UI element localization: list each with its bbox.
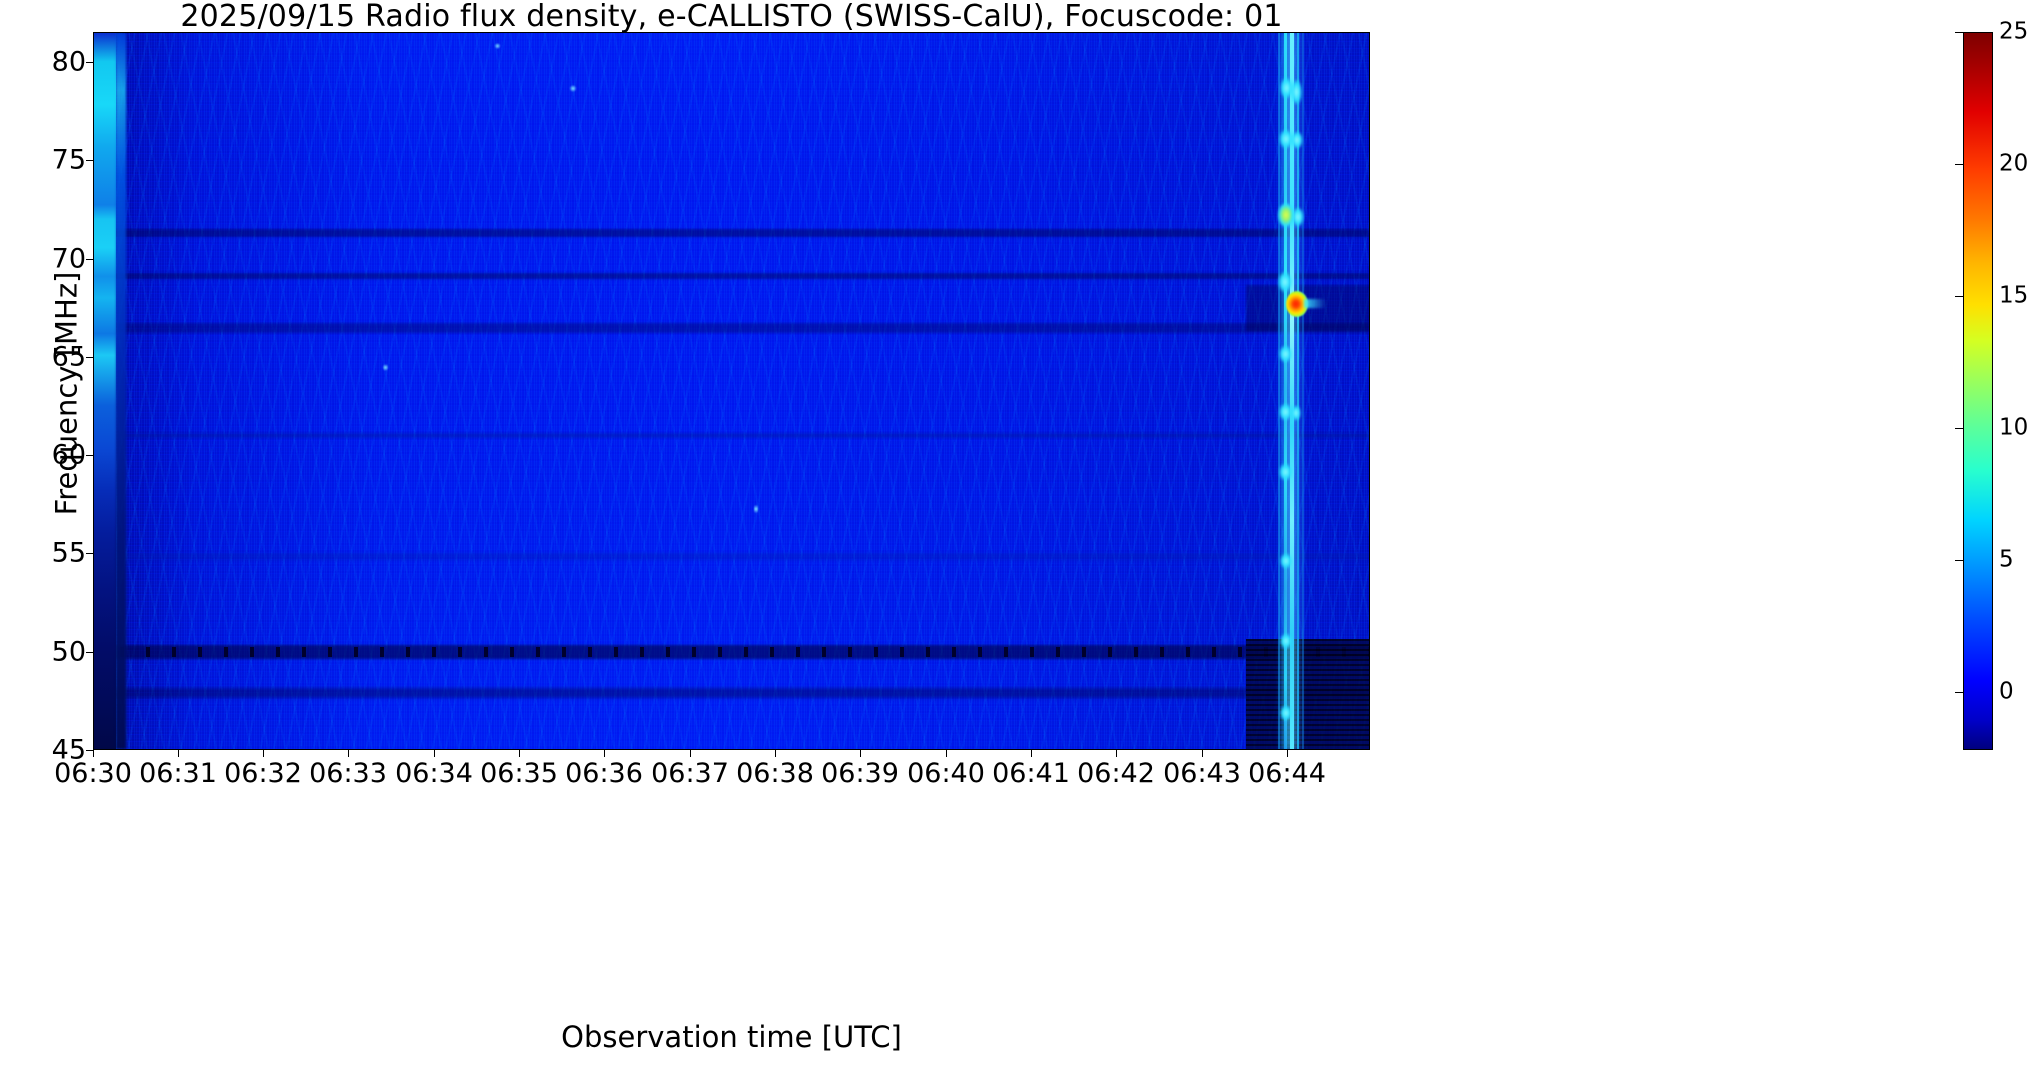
rfi-knot <box>1292 207 1304 227</box>
colorbar-tick <box>1955 560 1963 561</box>
colorbar-tick <box>1955 32 1963 33</box>
x-tick <box>1287 750 1288 757</box>
x-tick-label: 06:32 <box>224 760 302 787</box>
x-tick <box>1031 750 1032 757</box>
x-tick <box>860 750 861 757</box>
colorbar-tick <box>1955 692 1963 693</box>
y-tick <box>86 160 93 161</box>
colorbar-tick-label: 20 <box>1999 153 2028 176</box>
feature-band-60mhz <box>94 433 1369 438</box>
x-tick-label: 06:40 <box>907 760 985 787</box>
feature-band-72mhz <box>94 229 1369 237</box>
x-tick <box>775 750 776 757</box>
y-tick <box>86 553 93 554</box>
x-tick-label: 06:41 <box>992 760 1070 787</box>
y-tick <box>86 652 93 653</box>
x-tick-label: 06:37 <box>651 760 729 787</box>
colorbar-tick <box>1955 164 1963 165</box>
x-tick-label: 06:39 <box>821 760 899 787</box>
rfi-knot <box>1279 463 1292 481</box>
rfi-knot <box>1278 271 1292 293</box>
x-tick-label: 06:36 <box>565 760 643 787</box>
x-tick <box>263 750 264 757</box>
x-tick-label: 06:33 <box>309 760 387 787</box>
x-tick <box>604 750 605 757</box>
x-tick <box>93 750 94 757</box>
colorbar[interactable] <box>1963 32 1993 750</box>
y-tick <box>86 62 93 63</box>
x-tick <box>1116 750 1117 757</box>
x-tick <box>946 750 947 757</box>
rfi-knot <box>1279 345 1292 363</box>
calibration-band-edge <box>116 33 126 749</box>
feature-band-55mhz <box>94 553 1369 560</box>
vertical-streak-noise <box>94 33 1369 749</box>
colorbar-tick-label: 10 <box>1999 417 2028 440</box>
feature-band-48mhz <box>94 688 1369 698</box>
dark-patch-upper-band <box>1246 285 1370 331</box>
rfi-knot <box>1291 405 1301 421</box>
y-tick <box>86 750 93 751</box>
x-axis-label: Observation time [UTC] <box>93 1023 1370 1052</box>
calibration-band <box>94 33 116 749</box>
rfi-knot <box>1280 705 1292 721</box>
noise-speck <box>754 503 758 515</box>
rfi-hotspot-tail <box>1304 299 1326 308</box>
spectrogram-plot-area[interactable] <box>93 32 1370 750</box>
x-tick-label: 06:34 <box>395 760 473 787</box>
feature-band-70mhz <box>94 273 1369 279</box>
x-tick-label: 06:43 <box>1163 760 1241 787</box>
y-tick <box>86 455 93 456</box>
colorbar-tick <box>1955 428 1963 429</box>
x-tick <box>690 750 691 757</box>
x-tick <box>519 750 520 757</box>
noise-speck <box>383 363 388 372</box>
colorbar-tick-label: 5 <box>1999 549 2014 572</box>
x-tick <box>434 750 435 757</box>
rfi-knot <box>1291 79 1302 105</box>
feature-band-67mhz <box>94 323 1369 333</box>
colorbar-tick-label: 15 <box>1999 285 2028 308</box>
y-tick <box>86 259 93 260</box>
x-tick-label: 06:44 <box>1248 760 1326 787</box>
x-tick <box>178 750 179 757</box>
rfi-knot <box>1280 633 1292 649</box>
x-tick-label: 06:31 <box>139 760 217 787</box>
page-title: 2025/09/15 Radio flux density, e-CALLIST… <box>93 2 1370 32</box>
x-tick-label: 06:42 <box>1077 760 1155 787</box>
colorbar-tick <box>1955 296 1963 297</box>
rfi-knot <box>1280 553 1292 569</box>
x-tick <box>1202 750 1203 757</box>
spectrogram-figure: 2025/09/15 Radio flux density, e-CALLIST… <box>0 0 2043 1067</box>
colorbar-tick-label: 25 <box>1999 21 2028 44</box>
rfi-knot <box>1291 131 1303 149</box>
y-tick <box>86 357 93 358</box>
x-tick-label: 06:35 <box>480 760 558 787</box>
dotted-marker-row-50mhz <box>94 647 1369 657</box>
colorbar-tick-label: 0 <box>1999 681 2014 704</box>
dark-patch-low-band <box>1246 639 1370 750</box>
noise-speck <box>569 85 577 92</box>
y-axis-label: Frequency [MHz] <box>53 35 82 753</box>
noise-speck <box>494 43 501 49</box>
x-tick <box>348 750 349 757</box>
x-tick-label: 06:38 <box>736 760 814 787</box>
